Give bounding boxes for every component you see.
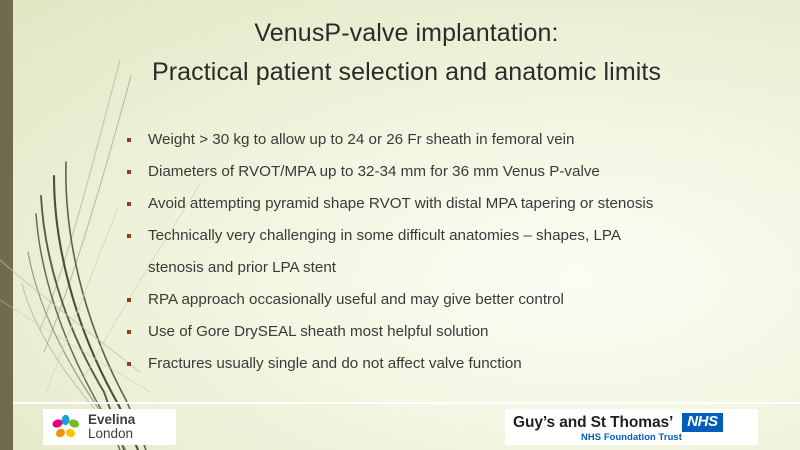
gstt-foundation-trust-subtitle: NHS Foundation Trust xyxy=(505,431,758,442)
gstt-logo-top-row: Guy’s and St Thomas’ NHS xyxy=(513,413,723,432)
guys-and-st-thomas-nhs-logo: Guy’s and St Thomas’ NHS NHS Foundation … xyxy=(505,409,758,445)
evelina-line-2: London xyxy=(88,427,135,441)
bullet-text: Fractures usually single and do not affe… xyxy=(148,355,522,372)
bullet-marker-icon xyxy=(127,298,131,302)
evelina-flower-icon xyxy=(49,412,83,442)
left-accent-bar xyxy=(0,0,13,450)
title-line-1: VenusP-valve implantation: xyxy=(13,14,800,53)
presentation-slide: VenusP-valve implantation: Practical pat… xyxy=(0,0,800,450)
bullet-continuation-line: stenosis and prior LPA stent xyxy=(120,252,780,284)
bullet-text: Diameters of RVOT/MPA up to 32-34 mm for… xyxy=(148,163,600,180)
bullet-marker-icon xyxy=(127,170,131,174)
bullet-item: Fractures usually single and do not affe… xyxy=(120,348,780,380)
bullet-text: Use of Gore DrySEAL sheath most helpful … xyxy=(148,323,488,340)
slide-title: VenusP-valve implantation: Practical pat… xyxy=(13,14,800,92)
bullet-text: RPA approach occasionally useful and may… xyxy=(148,291,564,308)
title-line-2: Practical patient selection and anatomic… xyxy=(13,53,800,92)
bullet-marker-icon xyxy=(127,330,131,334)
bullet-item: RPA approach occasionally useful and may… xyxy=(120,284,780,316)
bullet-item: Use of Gore DrySEAL sheath most helpful … xyxy=(120,316,780,348)
bullet-marker-icon xyxy=(127,138,131,142)
bullet-text: stenosis and prior LPA stent xyxy=(148,259,336,276)
nhs-badge-icon: NHS xyxy=(682,413,722,432)
evelina-wordmark: Evelina London xyxy=(88,413,135,441)
bullet-marker-icon xyxy=(127,362,131,366)
evelina-london-logo: Evelina London xyxy=(43,409,176,445)
bullet-list: Weight > 30 kg to allow up to 24 or 26 F… xyxy=(120,124,780,380)
bullet-item: Weight > 30 kg to allow up to 24 or 26 F… xyxy=(120,124,780,156)
bullet-text: Technically very challenging in some dif… xyxy=(148,227,621,244)
bullet-marker-icon xyxy=(127,234,131,238)
gstt-trust-name: Guy’s and St Thomas’ xyxy=(513,414,673,432)
bullet-marker-icon xyxy=(127,202,131,206)
bullet-text: Avoid attempting pyramid shape RVOT with… xyxy=(148,195,653,212)
footer-divider xyxy=(13,402,800,404)
bullet-item: Technically very challenging in some dif… xyxy=(120,220,780,252)
bullet-item: Avoid attempting pyramid shape RVOT with… xyxy=(120,188,780,220)
bullet-text: Weight > 30 kg to allow up to 24 or 26 F… xyxy=(148,131,574,148)
evelina-line-1: Evelina xyxy=(88,413,135,427)
bullet-item: Diameters of RVOT/MPA up to 32-34 mm for… xyxy=(120,156,780,188)
